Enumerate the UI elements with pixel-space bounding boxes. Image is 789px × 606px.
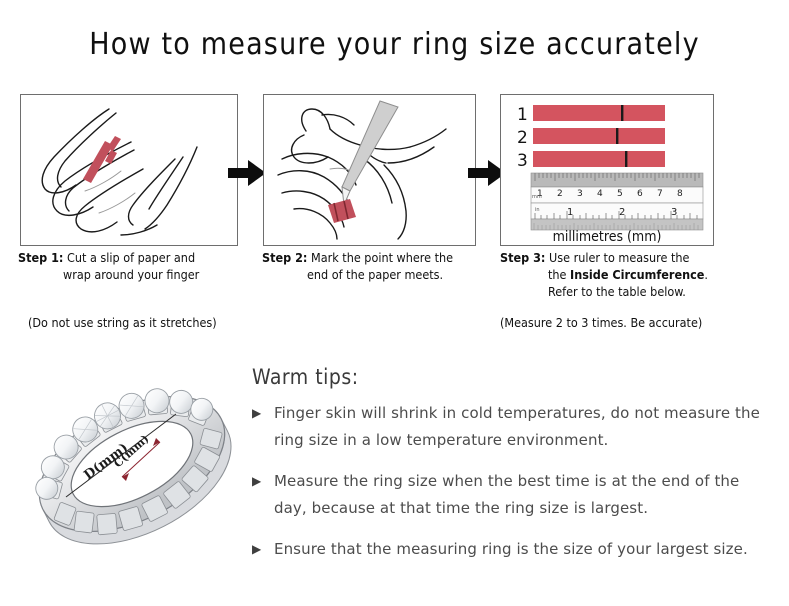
step-3-illustration-panel: 1 2 3 123 456 <box>500 94 714 246</box>
warm-tips-list: ▶ Finger skin will shrink in cold temper… <box>252 400 772 577</box>
svg-text:8: 8 <box>677 189 683 199</box>
pen-shape <box>340 101 398 213</box>
step-2-caption: Step 2: Mark the point where the end of … <box>262 249 502 283</box>
step-1-note: (Do not use string as it stretches) <box>28 315 217 330</box>
step-2-label: Step 2: <box>262 250 307 265</box>
step-1-illustration-panel <box>20 94 238 246</box>
svg-text:mm: mm <box>532 194 542 200</box>
svg-text:3: 3 <box>577 189 583 199</box>
svg-text:in: in <box>535 207 540 213</box>
step-1-line1: Cut a slip of paper and <box>67 250 195 265</box>
svg-text:5: 5 <box>617 189 623 199</box>
bullet-triangle-icon: ▶ <box>252 400 261 427</box>
ruler-caption: millimetres (mm) <box>553 229 662 245</box>
svg-text:6: 6 <box>637 189 643 199</box>
eternity-ring-illustration-icon: D(mm) C(mm) <box>18 352 246 582</box>
step-2-line1: Mark the point where the <box>311 250 453 265</box>
page-title: How to measure your ring size accurately <box>0 27 789 62</box>
svg-text:4: 4 <box>597 189 603 199</box>
ring-diagram: D(mm) C(mm) <box>18 352 246 582</box>
ring-size-guide-page: How to measure your ring size accurately <box>0 0 789 606</box>
bullet-triangle-icon: ▶ <box>252 468 261 495</box>
step-3-line2-pre: the <box>548 267 570 282</box>
step-3-inside-circumference: Inside Circumference <box>570 267 704 282</box>
hand-marking-paper-with-pen-icon <box>264 95 475 245</box>
strip-number-2: 2 <box>517 128 528 148</box>
step-1-label: Step 1: <box>18 250 63 265</box>
ruler-shape: 123 456 78 mm 123 in <box>531 173 703 230</box>
bullet-triangle-icon: ▶ <box>252 536 261 563</box>
list-item: ▶ Measure the ring size when the best ti… <box>252 468 772 522</box>
paper-band-shape <box>328 199 356 223</box>
step-3-label: Step 3: <box>500 250 545 265</box>
step-3-line3: Refer to the table below. <box>500 283 770 300</box>
step-3-caption: Step 3: Use ruler to measure the the Ins… <box>500 249 770 300</box>
tip-text: Measure the ring size when the best time… <box>274 472 739 517</box>
strip-number-1: 1 <box>517 105 528 125</box>
step-3-line1: Use ruler to measure the <box>549 250 689 265</box>
step-2-illustration-panel <box>263 94 476 246</box>
step-2-line2: end of the paper meets. <box>262 266 502 283</box>
svg-text:1: 1 <box>567 207 573 218</box>
step-3-line2-post: . <box>704 267 708 282</box>
step-3-note: (Measure 2 to 3 times. Be accurate) <box>500 315 702 330</box>
step-1-caption: Step 1: Cut a slip of paper and wrap aro… <box>18 249 258 283</box>
arrow-step1-to-step2-icon <box>228 160 266 186</box>
hand-with-paper-slip-icon <box>21 95 237 245</box>
tip-text: Ensure that the measuring ring is the si… <box>274 540 748 558</box>
list-item: ▶ Ensure that the measuring ring is the … <box>252 536 772 563</box>
step-1-line2: wrap around your finger <box>18 266 258 283</box>
svg-text:3: 3 <box>671 207 677 218</box>
svg-text:7: 7 <box>657 189 663 199</box>
warm-tips-heading: Warm tips: <box>252 365 359 389</box>
strip-number-3: 3 <box>517 151 528 171</box>
svg-text:2: 2 <box>557 189 563 199</box>
measuring-strips-on-ruler-icon: 1 2 3 123 456 <box>501 95 713 245</box>
svg-text:2: 2 <box>619 207 625 218</box>
list-item: ▶ Finger skin will shrink in cold temper… <box>252 400 772 454</box>
tip-text: Finger skin will shrink in cold temperat… <box>274 404 760 449</box>
step-3-line2: the Inside Circumference. <box>500 266 770 283</box>
